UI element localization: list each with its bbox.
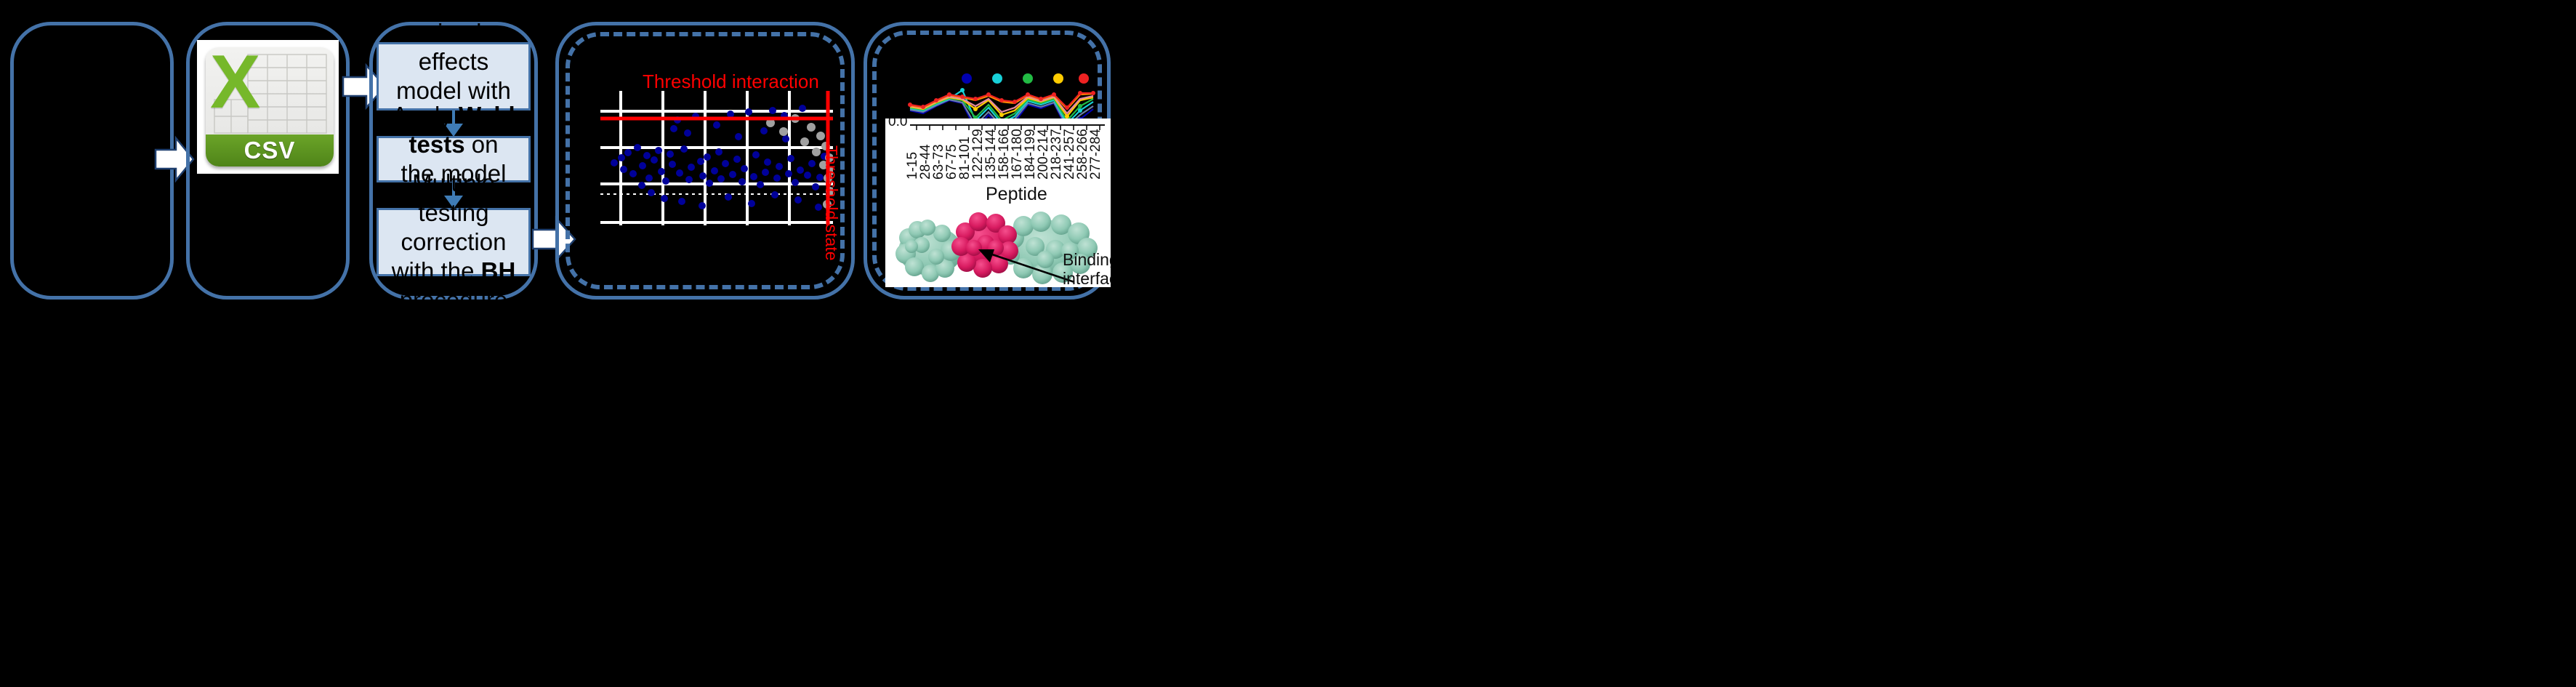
csv-label-band: CSV xyxy=(206,134,334,166)
excel-x-glyph: X xyxy=(210,47,260,120)
volcano-scatter-plot xyxy=(600,91,833,225)
bh-correction-text: Multiple testingcorrectionwith the BH pr… xyxy=(386,169,521,315)
csv-file-card: X CSV xyxy=(197,40,339,174)
peptide-structure-card: 0.0 1-15 28-44 63-73 67-75 81-101 122-12… xyxy=(885,118,1111,287)
binding-interface-label: Binding interface xyxy=(1063,251,1111,287)
data-source-panel xyxy=(10,22,174,300)
binding-interface-line2: interface xyxy=(1063,269,1111,287)
flowchart-figure: X CSV Fit a linear mixed-effects model w… xyxy=(0,0,2576,687)
bh-correction-box[interactable]: Multiple testingcorrectionwith the BH pr… xyxy=(377,208,531,276)
peptide-tick: 277-284 xyxy=(1088,129,1104,180)
legend-markers xyxy=(962,73,1089,84)
threshold-state-label: Threshold state xyxy=(821,145,841,261)
y-axis-first-tick: 0.0 xyxy=(888,118,907,130)
binding-interface-line1: Binding xyxy=(1063,250,1111,269)
threshold-interaction-label: Threshold interaction xyxy=(643,71,819,93)
peptide-tick-labels: 1-15 28-44 63-73 67-75 81-101 122-129 13… xyxy=(885,132,1111,180)
peptide-axis-title: Peptide xyxy=(986,184,1047,205)
csv-file-icon: X CSV xyxy=(206,47,334,166)
